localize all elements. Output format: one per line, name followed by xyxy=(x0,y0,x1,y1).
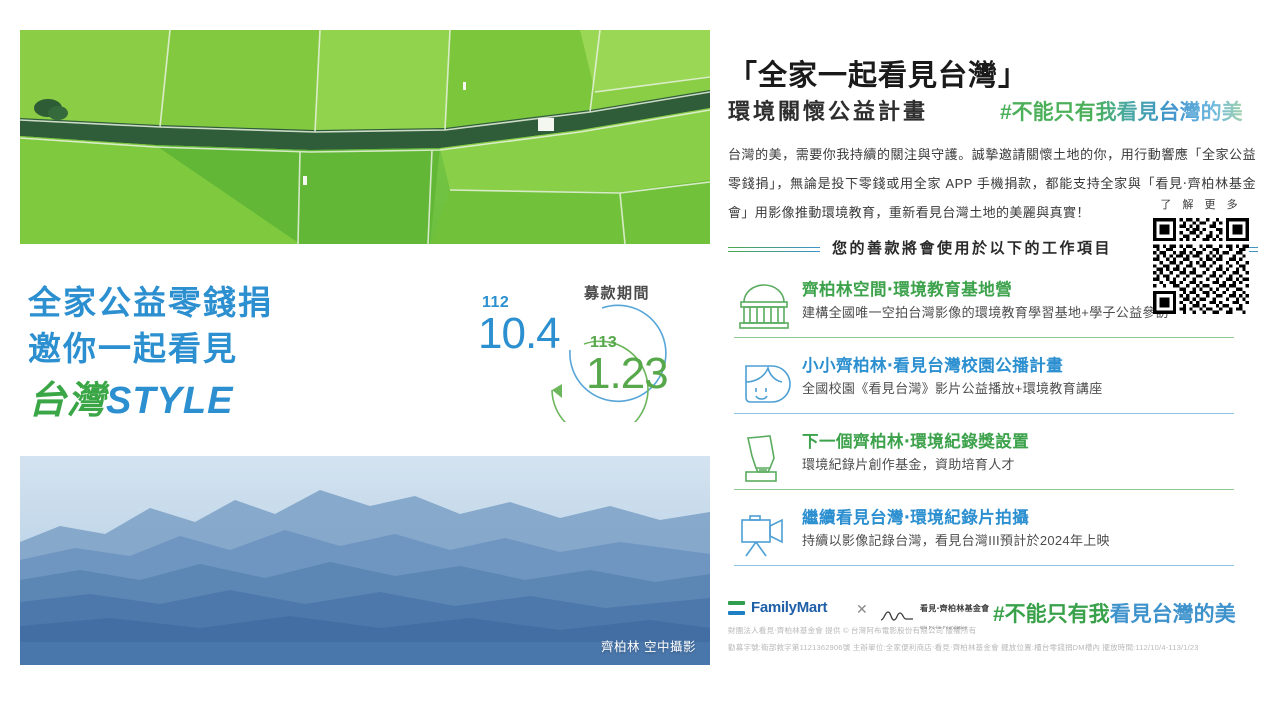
qr-block[interactable]: 了 解 更 多 xyxy=(1146,196,1256,314)
hashtag-bottom-green: #不能只有我 xyxy=(993,603,1110,626)
headline-line-1: 全家公益零錢捐 xyxy=(28,280,273,326)
footer-logo-row: FamilyMart ✕ 看見‧齊柏林基金會 Chi Po-lin Founda… xyxy=(728,598,1273,620)
headline-line-3: 台灣STYLE xyxy=(28,374,273,428)
foundation-name: 看見‧齊柏林基金會 xyxy=(920,604,989,613)
section-title: 您的善款將會使用於以下的工作項目 xyxy=(832,237,1112,258)
item-title: 下一個齊柏林‧環境紀錄獎設置 xyxy=(802,428,1029,452)
list-item[interactable]: 下一個齊柏林‧環境紀錄獎設置 環境紀錄片創作基金，資助培育人才 xyxy=(728,424,1258,500)
hashtag-bottom: #不能只有我看見台灣的美 xyxy=(993,598,1236,628)
familymart-logo: FamilyMart xyxy=(728,599,827,616)
item-title: 繼續看見台灣‧環境紀錄片拍攝 xyxy=(802,504,1029,528)
video-camera-icon xyxy=(734,504,794,562)
right-column: 「全家一起看見台灣」 環境關懷公益計畫 #不能只有我看見台灣的美 台灣的美，需要… xyxy=(722,0,1280,720)
photo-credit: 齊柏林 空中攝影 xyxy=(601,636,696,655)
headline-taiwan: 台灣 xyxy=(28,380,106,422)
item-desc: 建構全國唯一空拍台灣影像的環境教育學習基地+學子公益參訪 xyxy=(802,302,1169,321)
foundation-mark-icon xyxy=(880,609,914,623)
item-desc: 環境紀錄片創作基金，資助培育人才 xyxy=(802,454,1015,473)
left-column: 全家公益零錢捐 邀你一起看見 台灣STYLE 募款期間 112 10.4 113… xyxy=(0,0,712,720)
qr-label: 了 解 更 多 xyxy=(1146,196,1256,212)
mountain-photo: 齊柏林 空中攝影 xyxy=(20,456,710,665)
item-divider xyxy=(734,413,1234,414)
hashtag-top: #不能只有我看見台灣的美 xyxy=(1000,96,1243,126)
period-label: 募款期間 xyxy=(584,282,650,303)
aerial-fields-illustration xyxy=(20,30,710,244)
qr-code-icon[interactable] xyxy=(1153,218,1249,314)
familymart-bars-icon xyxy=(728,601,745,615)
period-start-date: 10.4 xyxy=(478,312,560,356)
page-title: 「全家一起看見台灣」 xyxy=(728,52,1028,94)
list-item[interactable]: 小小齊柏林‧看見台灣校園公播計畫 全國校園《看見台灣》影片公益播放+環境教育講座 xyxy=(728,348,1258,424)
item-title: 齊柏林空間‧環境教育基地營 xyxy=(802,276,1012,300)
donation-period-graphic: 募款期間 112 10.4 113 1.23 xyxy=(452,272,702,422)
headline-style: STYLE xyxy=(106,380,233,422)
familymart-name: FamilyMart xyxy=(751,599,827,616)
museum-icon xyxy=(734,276,794,334)
footer: FamilyMart ✕ 看見‧齊柏林基金會 Chi Po-lin Founda… xyxy=(728,598,1273,654)
section-rule-left-1 xyxy=(728,247,820,248)
headline-line-2: 邀你一起看見 xyxy=(28,326,273,372)
item-divider xyxy=(734,337,1234,338)
list-item[interactable]: 繼續看見台灣‧環境紀錄片拍攝 持續以影像記錄台灣，看見台灣III預計於2024年… xyxy=(728,500,1258,576)
aerial-fields-photo xyxy=(20,30,710,244)
foundation-text: 看見‧齊柏林基金會 Chi Po-lin Foundation xyxy=(920,598,989,634)
item-title: 小小齊柏林‧看見台灣校園公播計畫 xyxy=(802,352,1063,376)
period-end-date: 1.23 xyxy=(586,352,668,396)
hashtag-bottom-blue: 看見台灣的美 xyxy=(1110,603,1236,626)
trophy-icon xyxy=(734,428,794,486)
item-desc: 全國校園《看見台灣》影片公益播放+環境教育講座 xyxy=(802,378,1103,397)
page-subtitle: 環境關懷公益計畫 xyxy=(728,94,928,126)
cross-symbol: ✕ xyxy=(856,601,868,618)
chi-polin-foundation-logo: 看見‧齊柏林基金會 Chi Po-lin Foundation xyxy=(880,598,989,634)
section-rule-left-2 xyxy=(728,251,820,252)
fineprint-line-2: 勸募字號:衛部救字第1121362906號 主辦單位:全家便利商店‧看見‧齊柏林… xyxy=(728,641,1273,654)
mountain-illustration xyxy=(20,456,710,665)
item-desc: 持續以影像記錄台灣，看見台灣III預計於2024年上映 xyxy=(802,530,1110,549)
work-items-list: 齊柏林空間‧環境教育基地營 建構全國唯一空拍台灣影像的環境教育學習基地+學子公益… xyxy=(728,272,1258,576)
item-divider xyxy=(734,565,1234,566)
left-headline-block: 全家公益零錢捐 邀你一起看見 台灣STYLE xyxy=(28,280,273,428)
item-divider xyxy=(734,489,1234,490)
child-face-icon xyxy=(734,352,794,410)
poster-root: 全家公益零錢捐 邀你一起看見 台灣STYLE 募款期間 112 10.4 113… xyxy=(0,0,1280,720)
qr-code-svg xyxy=(1153,218,1249,314)
foundation-subtitle: Chi Po-lin Foundation xyxy=(920,625,967,630)
